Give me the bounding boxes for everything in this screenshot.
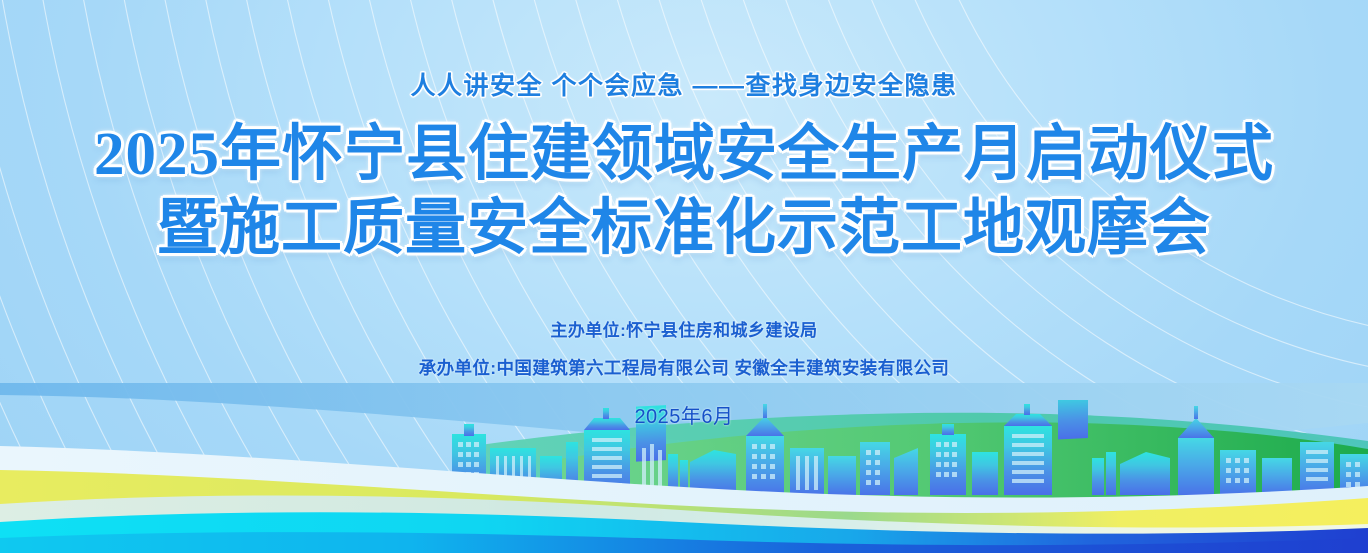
- event-date: 2025年6月: [0, 400, 1368, 429]
- banner-text-block: 人人讲安全 个个会应急 ——查找身边安全隐患 2025年怀宁县住建领域安全生产月…: [0, 0, 1368, 429]
- banner-subtitle: 人人讲安全 个个会应急 ——查找身边安全隐患: [0, 66, 1368, 102]
- foreground-waves: [0, 428, 1368, 553]
- banner-title-line-1: 2025年怀宁县住建领域安全生产月启动仪式: [0, 122, 1368, 188]
- organizer-line: 主办单位:怀宁县住房和城乡建设局: [0, 316, 1368, 341]
- banner-title-line-2: 暨施工质量安全标准化示范工地观摩会: [0, 196, 1368, 262]
- event-banner: 人人讲安全 个个会应急 ——查找身边安全隐患 2025年怀宁县住建领域安全生产月…: [0, 0, 1368, 553]
- co-organizer-line: 承办单位:中国建筑第六工程局有限公司 安徽全丰建筑安装有限公司: [0, 355, 1368, 380]
